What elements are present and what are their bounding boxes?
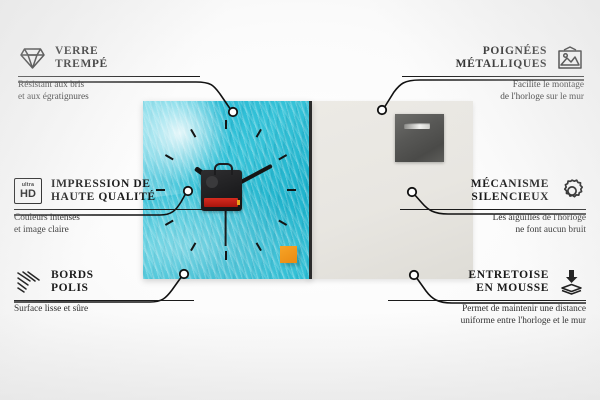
feature-header: BORDS POLIS	[14, 268, 194, 296]
feature-entretoise-en-mousse: ENTRETOISE EN MOUSSE Permet de maintenir…	[388, 268, 586, 327]
feature-description: Surface lisse et sûre	[14, 304, 194, 315]
feature-description: Résistant aux bris et aux égratignures	[18, 80, 200, 103]
feature-description: Couleurs intenses et image claire	[14, 213, 202, 236]
feature-impression-haute-qualite: ultra HD IMPRESSION DE HAUTE QUALITÉ Cou…	[14, 177, 202, 236]
polished-edges-icon	[14, 268, 42, 296]
picture-hanger-icon	[556, 44, 584, 72]
gear-icon	[558, 177, 586, 205]
title-rule	[402, 76, 584, 77]
clock-mechanism	[201, 170, 242, 211]
title-rule	[14, 209, 202, 210]
feature-description: Permet de maintenir une distance uniform…	[388, 304, 586, 327]
feature-header: ultra HD IMPRESSION DE HAUTE QUALITÉ	[14, 177, 202, 205]
feature-header: ENTRETOISE EN MOUSSE	[388, 268, 586, 296]
feature-description: Les aiguilles de l'horloge ne font aucun…	[400, 213, 586, 236]
feature-poignees-metalliques: POIGNÉES MÉTALLIQUES Facilite le montage…	[402, 44, 584, 103]
diamond-icon	[18, 44, 46, 72]
foam-spacer-icon	[558, 268, 586, 296]
feature-header: VERRE TREMPÉ	[18, 44, 200, 72]
feature-title: POIGNÉES MÉTALLIQUES	[456, 45, 547, 72]
hanger-slot	[404, 123, 430, 129]
ultra-hd-icon: ultra HD	[14, 177, 42, 205]
feature-title: MÉCANISME SILENCIEUX	[471, 178, 549, 205]
feature-description: Facilite le montage de l'horloge sur le …	[402, 80, 584, 103]
foam-spacer	[280, 246, 297, 263]
feature-mecanisme-silencieux: MÉCANISME SILENCIEUX Les aiguilles de l'…	[400, 177, 586, 236]
mechanism-dial	[206, 176, 218, 188]
mechanism-hanging-loop	[214, 163, 233, 175]
feature-title: BORDS POLIS	[51, 269, 94, 296]
title-rule	[18, 76, 200, 77]
feature-verre-trempe: VERRE TREMPÉ Résistant aux bris et aux é…	[18, 44, 200, 103]
feature-title: IMPRESSION DE HAUTE QUALITÉ	[51, 178, 156, 205]
infographic-canvas: VERRE TREMPÉ Résistant aux bris et aux é…	[0, 0, 600, 400]
feature-title: ENTRETOISE EN MOUSSE	[468, 269, 549, 296]
title-rule	[14, 300, 194, 301]
feature-bords-polis: BORDS POLIS Surface lisse et sûre	[14, 268, 194, 316]
title-rule	[388, 300, 586, 301]
feature-header: POIGNÉES MÉTALLIQUES	[402, 44, 584, 72]
feature-header: MÉCANISME SILENCIEUX	[400, 177, 586, 205]
metal-hanger-plate	[395, 114, 444, 162]
battery	[204, 198, 238, 207]
feature-title: VERRE TREMPÉ	[55, 45, 108, 72]
title-rule	[400, 209, 586, 210]
